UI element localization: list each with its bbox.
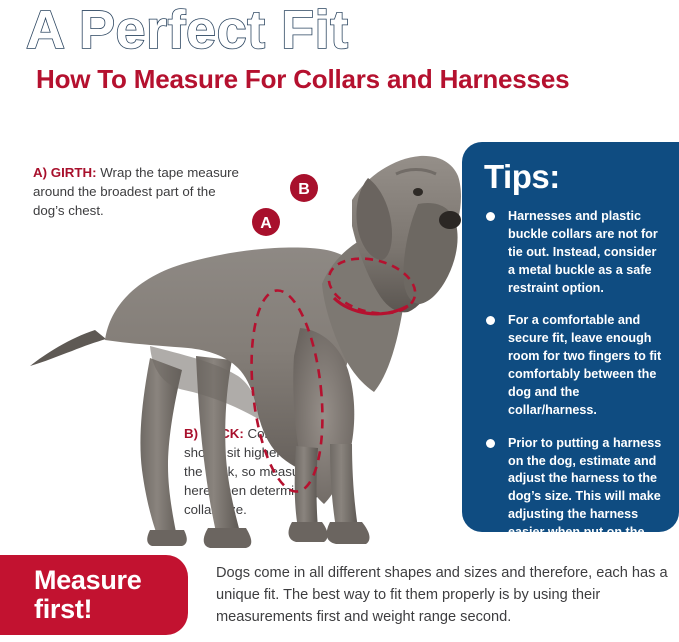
measure-first-label: Measure first!: [0, 566, 141, 624]
dog-nose: [439, 211, 461, 229]
infographic-page: A Perfect Fit How To Measure For Collars…: [0, 0, 679, 642]
page-title: A Perfect Fit: [26, 2, 349, 59]
dog-eye: [413, 188, 423, 196]
measure-first-badge: Measure first!: [0, 555, 188, 635]
marker-b-label: B: [298, 181, 310, 198]
tip-item: For a comfortable and secure fit, leave …: [484, 312, 665, 419]
footer-paragraph: Dogs come in all different shapes and si…: [216, 562, 672, 629]
dog-front-paw-back: [289, 522, 328, 542]
tips-panel: Tips: Harnesses and plastic buckle colla…: [462, 142, 679, 532]
tip-item: Prior to putting a harness on the dog, e…: [484, 435, 665, 560]
measure-first-line2: first!: [34, 595, 141, 624]
tip-text: Prior to putting a harness on the dog, e…: [508, 436, 661, 557]
bullet-icon: [486, 316, 495, 325]
dog-front-leg-front: [330, 444, 358, 528]
marker-a: A: [252, 208, 280, 236]
tips-heading: Tips:: [484, 158, 665, 196]
dog-front-paw-front: [327, 522, 370, 544]
bullet-icon: [486, 439, 495, 448]
dog-rear-paw-back: [147, 530, 187, 546]
dog-rear-paw-front: [204, 528, 252, 548]
dog-illustration: A B: [0, 108, 462, 548]
tip-text: For a comfortable and secure fit, leave …: [508, 313, 661, 416]
tips-list: Harnesses and plastic buckle collars are…: [484, 208, 665, 560]
page-subtitle: How To Measure For Collars and Harnesses: [36, 64, 569, 95]
tip-item: Harnesses and plastic buckle collars are…: [484, 208, 665, 297]
dog-tail: [30, 330, 106, 366]
marker-a-label: A: [260, 215, 272, 232]
marker-b: B: [290, 174, 318, 202]
measure-first-line1: Measure: [34, 566, 141, 595]
tip-text: Harnesses and plastic buckle collars are…: [508, 209, 658, 295]
bullet-icon: [486, 212, 495, 221]
